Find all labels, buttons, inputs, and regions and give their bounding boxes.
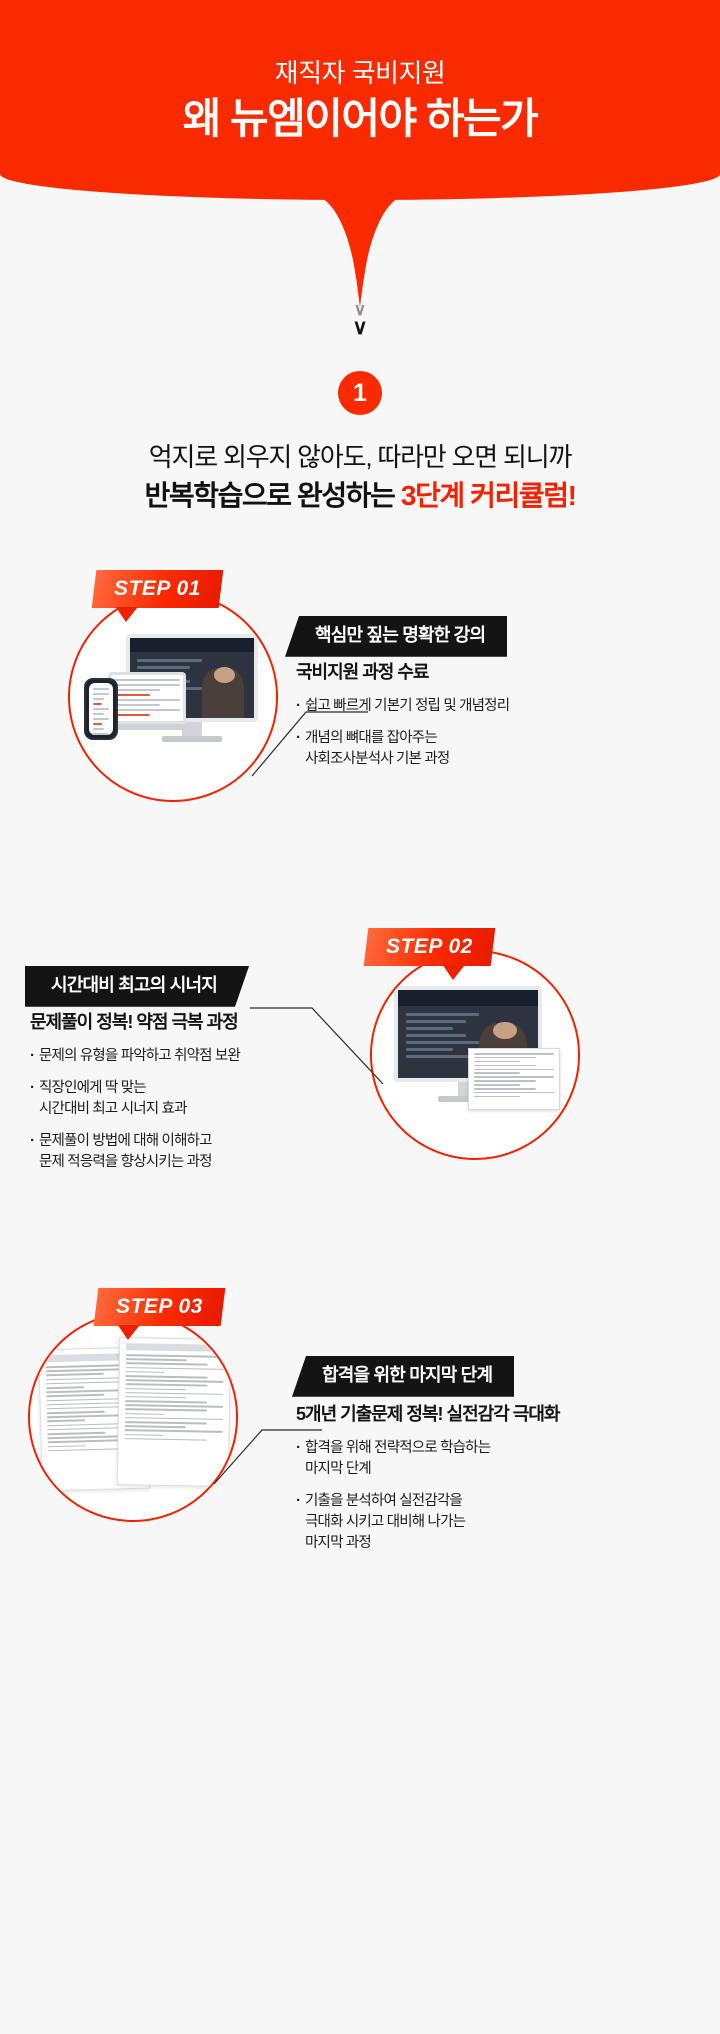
list-item: 직장인에게 딱 맞는 시간대비 최고 시너지 효과 — [30, 1078, 360, 1120]
landing-page: 재직자 국비지원 왜 뉴엠이어야 하는가 ∨ ∨ ∨ 1 억지로 외우지 않아도… — [0, 0, 720, 2034]
headline-line-1: 억지로 외우지 않아도, 따라만 오면 되니까 — [0, 440, 720, 475]
headline-line-2-accent: 3단계 커리큘럼! — [401, 480, 576, 511]
step-3-illustration — [28, 1312, 238, 1522]
chevron-down-icon-3: ∨ — [352, 319, 367, 337]
step-3-text-block: 5개년 기출문제 정복! 실전감각 극대화 합격을 위해 전략적으로 학습하는 … — [296, 1402, 696, 1565]
step-section-1: STEP 01 핵심만 짚는 명확한 강의 국비지원 과정 수료 쉽고 빠르게 … — [0, 560, 720, 860]
laptop-icon — [108, 672, 186, 724]
step-3-badge-label: STEP 03 — [116, 1296, 203, 1317]
phone-screen — [89, 683, 113, 735]
list-item: 기출을 분석하여 실전감각을 극대화 시키고 대비해 나가는 마지막 과정 — [296, 1491, 696, 1554]
question-panel — [468, 1048, 560, 1110]
video-title-bar — [398, 990, 538, 1006]
headline-line-2: 반복학습으로 완성하는 3단계 커리큘럼! — [0, 477, 720, 515]
step-2-label: 시간대비 최고의 시너지 — [25, 966, 249, 1007]
step-3-label: 합격을 위한 마지막 단계 — [292, 1356, 514, 1397]
headline-line-2-plain: 반복학습으로 완성하는 — [144, 480, 400, 511]
step-section-3: STEP 03 합격을 위한 마지막 단계 5개년 기출문제 정복! 실전감각 … — [0, 1230, 720, 1550]
instructor-head-icon — [493, 1022, 517, 1040]
step-2-badge-label: STEP 02 — [386, 936, 473, 957]
step-2-heading: 문제풀이 정복! 약점 극복 과정 — [30, 1010, 360, 1034]
main-headline: 억지로 외우지 않아도, 따라만 오면 되니까 반복학습으로 완성하는 3단계 … — [0, 440, 720, 515]
step-2-illustration — [370, 950, 580, 1160]
step-2-bullet-list: 문제의 유형을 파악하고 취약점 보완 직장인에게 딱 맞는 시간대비 최고 시… — [30, 1046, 360, 1173]
step-3-heading-line-1: 5개년 기출문제 정복! — [296, 1404, 443, 1424]
list-item: 개념의 뼈대를 잡아주는 사회조사분석사 기본 과정 — [296, 728, 696, 770]
sheet-header — [126, 1343, 224, 1352]
smartphone-icon — [84, 678, 118, 740]
step-1-label: 핵심만 짚는 명확한 강의 — [285, 616, 507, 657]
step-1-illustration — [68, 592, 278, 802]
video-title-bar — [130, 638, 254, 652]
laptop-screen — [111, 675, 183, 721]
step-1-heading: 국비지원 과정 수료 — [296, 660, 696, 684]
instructor-head-icon — [214, 667, 235, 683]
section-number-badge: 1 — [338, 371, 382, 415]
step-1-badge: STEP 01 — [92, 570, 223, 608]
step-section-2: STEP 02 시간대비 최고의 시너지 문제풀이 정복! 약점 극복 과정 문… — [0, 890, 720, 1190]
list-item: 문제풀이 방법에 대해 이해하고 문제 적응력을 향상시키는 과정 — [30, 1131, 360, 1173]
step-2-badge: STEP 02 — [364, 928, 495, 966]
list-item: 문제의 유형을 파악하고 취약점 보완 — [30, 1046, 360, 1067]
list-item: 쉽고 빠르게 기본기 정립 및 개념정리 — [296, 696, 696, 717]
step-3-badge: STEP 03 — [94, 1288, 225, 1326]
step-3-heading-line-2: 실전감각 극대화 — [447, 1404, 560, 1424]
monitor-base — [162, 736, 222, 742]
step-1-text-block: 국비지원 과정 수료 쉽고 빠르게 기본기 정립 및 개념정리 개념의 뼈대를 … — [296, 660, 696, 781]
hero-speech-tail-icon — [317, 186, 403, 310]
hero-subtitle: 재직자 국비지원 — [275, 58, 446, 89]
step-3-heading: 5개년 기출문제 정복! 실전감각 극대화 — [296, 1402, 696, 1426]
list-item: 합격을 위해 전략적으로 학습하는 마지막 단계 — [296, 1438, 696, 1480]
hero-banner: 재직자 국비지원 왜 뉴엠이어야 하는가 — [0, 0, 720, 200]
step-2-text-block: 문제풀이 정복! 약점 극복 과정 문제의 유형을 파악하고 취약점 보완 직장… — [30, 1010, 360, 1184]
step-1-badge-label: STEP 01 — [114, 578, 201, 599]
hero-title: 왜 뉴엠이어야 하는가 — [183, 96, 538, 142]
step-3-bullet-list: 합격을 위해 전략적으로 학습하는 마지막 단계 기출을 분석하여 실전감각을 … — [296, 1438, 696, 1554]
step-1-bullet-list: 쉽고 빠르게 기본기 정립 및 개념정리 개념의 뼈대를 잡아주는 사회조사분석… — [296, 696, 696, 770]
